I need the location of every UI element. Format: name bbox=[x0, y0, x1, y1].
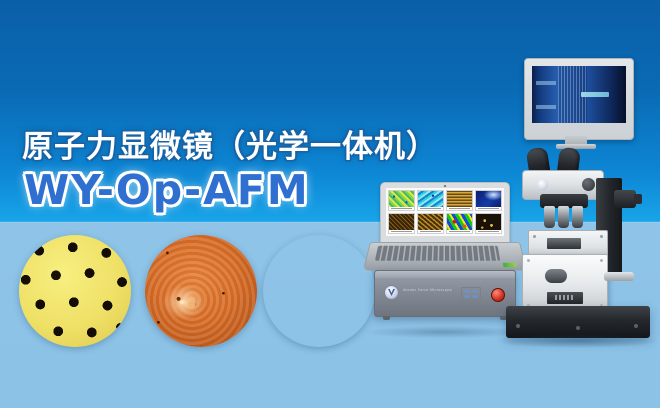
laptop-screen bbox=[386, 188, 504, 236]
head-adjust-knob[interactable] bbox=[582, 178, 595, 191]
brand-logo-icon bbox=[384, 285, 399, 300]
base-shadow bbox=[498, 334, 658, 348]
scan-thumbnail bbox=[388, 190, 415, 211]
scan-thumbnail bbox=[417, 190, 444, 211]
webcam-icon bbox=[444, 185, 446, 187]
laptop-lid bbox=[380, 182, 510, 246]
objective-lenses bbox=[544, 206, 584, 230]
monitor-screen bbox=[532, 66, 626, 123]
workstation-shadow bbox=[366, 326, 522, 338]
product-model: WY-Op-AFM bbox=[24, 166, 310, 214]
stage-translation-rod[interactable] bbox=[604, 272, 634, 281]
scan-thumbnail bbox=[388, 213, 415, 234]
scanner-slot bbox=[547, 238, 581, 249]
scan-thumbnail bbox=[446, 190, 473, 211]
controller-foot bbox=[383, 316, 390, 320]
optical-afm-microscope bbox=[492, 58, 660, 348]
controller-label: Atomic Force Microscope bbox=[403, 288, 452, 292]
stage-label-plate bbox=[547, 292, 583, 304]
sample-stage bbox=[522, 254, 608, 312]
brand-logo-icon bbox=[537, 179, 548, 190]
lcd-monitor bbox=[524, 58, 634, 140]
controller-indicator-leds bbox=[461, 287, 481, 301]
camera-port bbox=[614, 190, 636, 208]
afm-sample-nanoparticles bbox=[263, 235, 375, 347]
afm-sample-spiral-terrace bbox=[145, 235, 257, 347]
page-title: 原子力显微镜（光学一体机） bbox=[22, 121, 438, 166]
laptop-keyboard bbox=[375, 246, 500, 261]
afm-sample-dot-array bbox=[19, 235, 131, 347]
scan-thumbnail bbox=[417, 213, 444, 234]
scan-thumbnail bbox=[446, 213, 473, 234]
stage-adjust-knob[interactable] bbox=[545, 269, 567, 283]
product-banner: 原子力显微镜（光学一体机） WY-Op-AFM bbox=[0, 0, 660, 408]
